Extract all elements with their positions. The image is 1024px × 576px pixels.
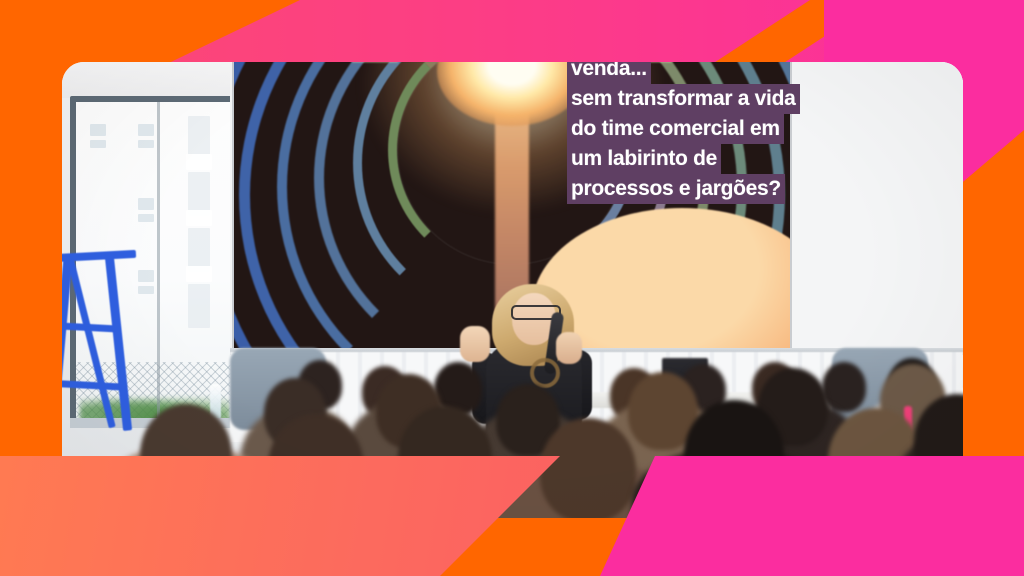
bottom-coral-band [0,456,620,576]
graphic-canvas: venda... sem transformar a vida do time … [0,0,1024,576]
bottom-magenta-parallelogram [600,456,1024,576]
background-shapes-bottom [0,0,1024,576]
